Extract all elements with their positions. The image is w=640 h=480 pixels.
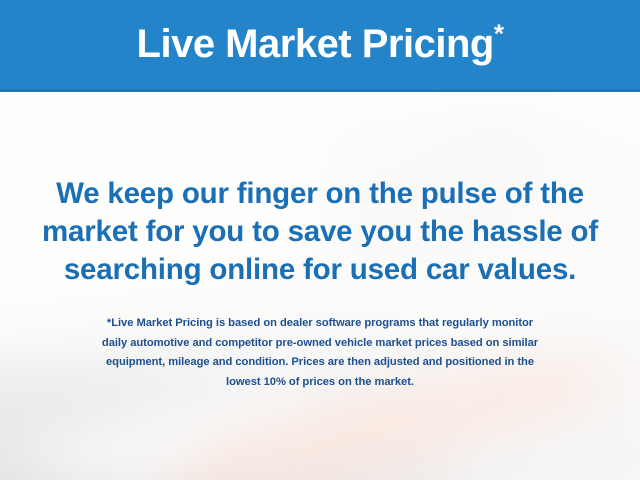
page-title-text: Live Market Pricing bbox=[137, 22, 494, 66]
headline-line-2: market for you to save you the hassle of bbox=[30, 213, 610, 251]
disclaimer-line-2: daily automotive and competitor pre-owne… bbox=[25, 334, 615, 354]
asterisk-marker: * bbox=[494, 18, 504, 48]
headline-line-3: searching online for used car values. bbox=[30, 251, 610, 289]
disclaimer-line-3: equipment, mileage and condition. Prices… bbox=[25, 353, 615, 373]
disclaimer-text: *Live Market Pricing is based on dealer … bbox=[25, 314, 615, 392]
disclaimer-line-1: *Live Market Pricing is based on dealer … bbox=[25, 314, 615, 334]
content-area: We keep our finger on the pulse of the m… bbox=[0, 92, 640, 480]
page-title: Live Market Pricing* bbox=[137, 24, 504, 64]
disclaimer-line-4: lowest 10% of prices on the market. bbox=[25, 373, 615, 393]
live-market-pricing-banner: Live Market Pricing* We keep our finger … bbox=[0, 0, 640, 480]
headline: We keep our finger on the pulse of the m… bbox=[30, 175, 610, 289]
headline-line-1: We keep our finger on the pulse of the bbox=[30, 175, 610, 213]
header-banner: Live Market Pricing* bbox=[0, 0, 640, 92]
